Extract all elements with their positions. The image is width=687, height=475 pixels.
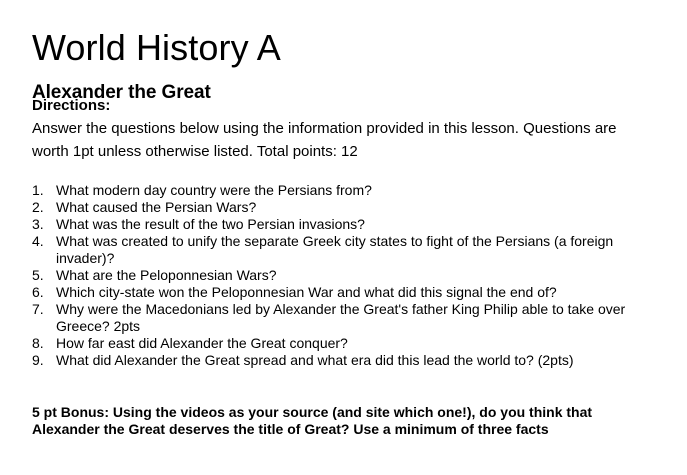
bonus-question: 5 pt Bonus: Using the videos as your sou… bbox=[32, 404, 642, 437]
question-item: 6.Which city-state won the Peloponnesian… bbox=[32, 284, 654, 301]
question-number: 4. bbox=[32, 233, 50, 250]
question-item: 9.What did Alexander the Great spread an… bbox=[32, 352, 654, 369]
question-number: 2. bbox=[32, 199, 50, 216]
question-number: 8. bbox=[32, 335, 50, 352]
question-text: What did Alexander the Great spread and … bbox=[56, 352, 654, 369]
question-text: What was created to unify the separate G… bbox=[56, 233, 654, 267]
question-number: 3. bbox=[32, 216, 50, 233]
question-text: How far east did Alexander the Great con… bbox=[56, 335, 654, 352]
question-list: 1.What modern day country were the Persi… bbox=[32, 182, 654, 369]
question-number: 9. bbox=[32, 352, 50, 369]
directions-label: Directions: bbox=[32, 96, 656, 116]
page-title: World History A bbox=[32, 26, 281, 70]
question-item: 8.How far east did Alexander the Great c… bbox=[32, 335, 654, 352]
question-item: 3.What was the result of the two Persian… bbox=[32, 216, 654, 233]
directions-body: Answer the questions below using the inf… bbox=[32, 117, 656, 163]
question-text: What caused the Persian Wars? bbox=[56, 199, 654, 216]
question-text: What modern day country were the Persian… bbox=[56, 182, 654, 199]
question-number: 1. bbox=[32, 182, 50, 199]
question-number: 7. bbox=[32, 301, 50, 318]
question-number: 5. bbox=[32, 267, 50, 284]
question-item: 2.What caused the Persian Wars? bbox=[32, 199, 654, 216]
question-item: 4.What was created to unify the separate… bbox=[32, 233, 654, 267]
question-text: What are the Peloponnesian Wars? bbox=[56, 267, 654, 284]
question-item: 1.What modern day country were the Persi… bbox=[32, 182, 654, 199]
worksheet-page: World History A Alexander the Great Dire… bbox=[0, 0, 687, 475]
question-item: 7.Why were the Macedonians led by Alexan… bbox=[32, 301, 654, 335]
question-text: Which city-state won the Peloponnesian W… bbox=[56, 284, 654, 301]
question-text: Why were the Macedonians led by Alexande… bbox=[56, 301, 654, 335]
question-text: What was the result of the two Persian i… bbox=[56, 216, 654, 233]
directions-section: Directions: Answer the questions below u… bbox=[32, 96, 656, 163]
question-item: 5.What are the Peloponnesian Wars? bbox=[32, 267, 654, 284]
question-number: 6. bbox=[32, 284, 50, 301]
